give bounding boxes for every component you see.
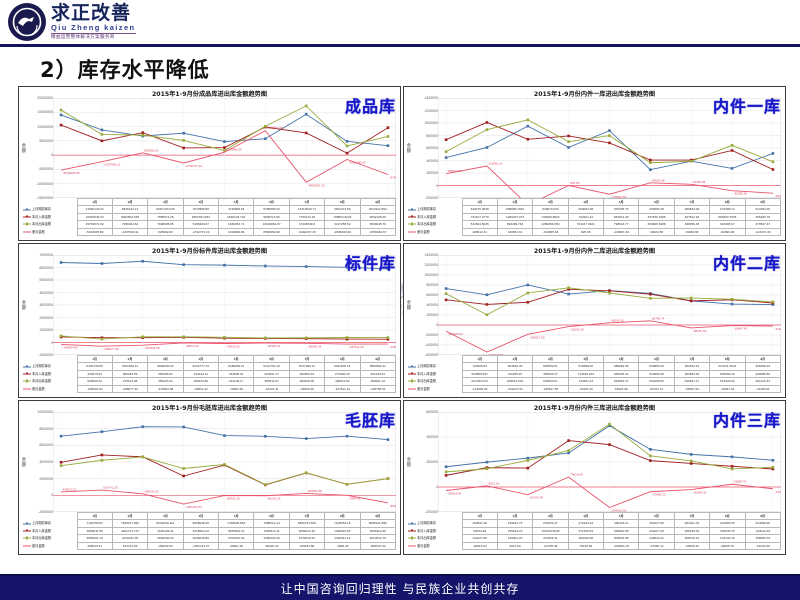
table-cell: -50020.22	[254, 542, 289, 549]
table-cell: 19466.68	[674, 228, 709, 235]
svg-text:-14041.00: -14041.00	[774, 490, 781, 494]
table-cell: 3220018.80	[183, 535, 218, 542]
table-row: 本月入库金额10540046.035002504.5357855574.2825…	[23, 213, 396, 220]
slide-header: 求正改善 Qiu Zheng kaizen 精益运营整体解决方案服务商	[0, 0, 800, 46]
table-row: 本月出库金额526006.22275123.98458123.44458122.…	[23, 378, 396, 385]
table-cell: -124605.02	[462, 385, 497, 392]
y-axis-ticks: 7000000600000050000004000000300000020000…	[27, 255, 53, 355]
table-cell: -185617.50	[533, 385, 568, 392]
svg-text:-900037.92: -900037.92	[389, 504, 396, 508]
table-cell: 208736.44	[674, 535, 709, 542]
table-cell: 14313540.71	[289, 206, 324, 213]
legend-swatch-icon	[408, 217, 416, 218]
series-差月金额: -158904.50-298277.32-215822.58-35812.32-…	[61, 343, 396, 351]
svg-text:-35812.32: -35812.32	[185, 344, 199, 348]
y-tick-label: 200000	[426, 460, 438, 464]
table-cell: 482633.54	[674, 370, 709, 377]
table-cell: -61705.49	[533, 542, 568, 549]
table-cell: 162001.48	[462, 520, 497, 527]
table-cell: 6697103.045	[148, 206, 183, 213]
y-tick-label: 1000000	[39, 328, 53, 332]
table-cell: 639843.27	[604, 378, 639, 385]
table-cell: 2648103.704	[219, 213, 254, 220]
month-header: 6月	[639, 199, 674, 206]
legend-swatch-icon	[23, 531, 31, 532]
table-cell: 560293.7635	[710, 213, 745, 220]
table-cell: 7168648.862	[219, 520, 254, 527]
table-row: 差月金额-5232625.89-2307900.11825992.83-2742…	[23, 228, 396, 235]
legend-swatch-icon	[23, 224, 31, 225]
series-legend-label: 本月出库金额	[23, 221, 77, 228]
table-cell: -1999.45	[325, 542, 360, 549]
y-tick-label: -400000	[425, 343, 438, 347]
month-header: 5月	[604, 356, 639, 363]
svg-text:-61705.49: -61705.49	[529, 496, 543, 500]
month-header: 9月	[360, 356, 396, 363]
table-cell: -28401.20	[219, 542, 254, 549]
table-row: 上月期初库存6400730.556321000.116500000.446224…	[23, 363, 396, 370]
table-cell: 17246539.6	[289, 221, 324, 228]
table-cell: -310865.63	[533, 228, 568, 235]
month-header: 5月	[604, 513, 639, 520]
month-header: 4月	[183, 199, 218, 206]
month-header: 7月	[674, 356, 709, 363]
table-cell: 3635002.31	[219, 527, 254, 534]
table-cell: 5750886.63	[254, 206, 289, 213]
month-header: 1月	[77, 356, 112, 363]
y-tick-label: -10000000	[36, 182, 53, 186]
month-header: 3月	[148, 356, 183, 363]
svg-text:-128756.61: -128756.61	[389, 345, 396, 349]
table-cell: 482633.14	[674, 363, 709, 370]
table-cell: -66500.29	[289, 385, 324, 392]
month-header: 8月	[325, 356, 360, 363]
legend-swatch-icon	[408, 374, 416, 375]
table-cell: 893489.764	[497, 221, 532, 228]
table-cell: 382306.61	[148, 370, 183, 377]
table-cell: 878405.75	[604, 206, 639, 213]
series-差月金额: -5232625.89-2307900.11825992.83-2742747.…	[61, 126, 396, 187]
table-cell: 6400730.55	[77, 363, 112, 370]
chart-title: 2015年1-9月份毛胚库进出库金额趋势图	[19, 403, 400, 412]
legend-swatch-icon	[23, 209, 31, 210]
legend-swatch-icon	[408, 224, 416, 225]
table-cell: 631472.25	[112, 542, 147, 549]
table-cell: 7855574.28	[148, 213, 183, 220]
table-cell: 8815213.14	[112, 206, 147, 213]
table-cell: 6809701.620	[289, 520, 324, 527]
footer-text: 让中国咨询回归理性 与民族企业共创共存	[281, 580, 520, 597]
table-cell: 43624.58	[639, 228, 674, 235]
svg-text:-10847.43: -10847.43	[734, 327, 748, 331]
table-cell: 256209.76	[745, 213, 781, 220]
table-cell: 1009207.073	[497, 213, 532, 220]
table-row: 差月金额-124605.02-541047.51-185617.50-31091…	[408, 385, 781, 392]
svg-text:-2307900.11: -2307900.11	[103, 163, 120, 167]
table-cell: 739480.9824	[533, 213, 568, 220]
series-legend-label: 差月金额	[23, 542, 77, 549]
table-row: 差月金额-158904.50-298277.32-215822.58-35812…	[23, 385, 396, 392]
svg-text:-37995.12: -37995.12	[652, 493, 666, 497]
table-cell: -10847.43	[710, 385, 745, 392]
month-header: 2月	[112, 199, 147, 206]
table-cell: 609004.38	[568, 206, 603, 213]
chart-panel: 2015年1-9月份标件库进出库金额趋势图标件库金额70000006000000…	[18, 243, 401, 398]
table-cell: 3560221.10	[77, 535, 112, 542]
table-cell: -900037.92	[360, 542, 396, 549]
chart-badge: 内件二库	[713, 250, 781, 274]
table-cell: 412109.17	[219, 378, 254, 385]
table-cell: -14041.00	[745, 542, 781, 549]
series-legend-label: 上月期初库存	[408, 363, 462, 370]
table-cell: 301027.80	[639, 520, 674, 527]
series-legend-label: 本月出库金额	[23, 378, 77, 385]
table-cell: 682935.22	[604, 370, 639, 377]
month-header: 9月	[360, 199, 396, 206]
table-cell: 455003.17	[533, 370, 568, 377]
table-cell: 311581.31	[497, 228, 532, 235]
series-差月金额: 408010.31631472.25182032.60-1051212.57-2…	[61, 486, 396, 510]
series-legend-label: 差月金额	[23, 385, 77, 392]
series-legend-label: 本月入库金额	[408, 527, 462, 534]
table-cell: 339001.05	[604, 527, 639, 534]
chart-badge: 成品库	[345, 93, 396, 117]
table-header-row: 1月2月3月4月5月6月7月8月9月	[23, 356, 396, 363]
table-cell: 379547.47	[745, 221, 781, 228]
table-cell: 292040.88	[568, 535, 603, 542]
legend-swatch-icon	[23, 374, 31, 375]
month-header: 1月	[77, 199, 112, 206]
y-tick-label: 400000	[426, 435, 438, 439]
svg-text:408010.31: 408010.31	[63, 487, 78, 491]
y-tick-label: 2000000	[39, 477, 53, 481]
table-cell: 7088212.14	[254, 520, 289, 527]
svg-text:-79823.62: -79823.62	[226, 345, 240, 349]
y-tick-label: 1000000	[424, 121, 438, 125]
table-cell: 681521.40	[604, 213, 639, 220]
table-cell: 371259.54	[568, 527, 603, 534]
month-header: 1月	[77, 513, 112, 520]
y-tick-label: 20000000	[37, 96, 53, 100]
svg-text:-58187.63: -58187.63	[693, 329, 707, 333]
table-cell: 6011500.16	[325, 363, 360, 370]
table-cell: -79823.62	[219, 385, 254, 392]
legend-swatch-icon	[23, 381, 31, 382]
table-cell: 15781571.92	[77, 221, 112, 228]
y-tick-label: 10000000	[37, 125, 53, 129]
table-cell: 382240.59	[112, 370, 147, 377]
table-cell: -1508160.90	[325, 228, 360, 235]
month-header: 7月	[289, 513, 324, 520]
month-header: 5月	[219, 513, 254, 520]
svg-text:825992.83: 825992.83	[144, 148, 159, 152]
table-cell: 4620100.11	[148, 527, 183, 534]
y-tick-label: -200000	[425, 333, 438, 337]
legend-swatch-icon	[408, 531, 416, 532]
table-cell: 2010012.70	[360, 535, 396, 542]
table-cell: 640620.67	[533, 378, 568, 385]
chart-data-table: 1月2月3月4月5月6月7月8月9月上月期初库存6400730.55632100…	[23, 355, 396, 395]
table-cell: 407522.18	[674, 213, 709, 220]
month-header: 5月	[219, 199, 254, 206]
svg-text:79218.66: 79218.66	[570, 473, 583, 477]
y-tick-label: 5000000	[39, 139, 53, 143]
month-header: 8月	[325, 513, 360, 520]
y-tick-label: 600000	[426, 410, 438, 414]
table-cell: 275123.98	[112, 378, 147, 385]
svg-text:-82999.90: -82999.90	[734, 192, 748, 196]
table-row: 上月期初库存14060140.028815213.146697103.04576…	[23, 206, 396, 213]
table-cell: 241066.25	[710, 520, 745, 527]
table-cell: -58187.63	[674, 385, 709, 392]
table-cell: 5002504.535	[112, 213, 147, 220]
y-tick-label: 7000000	[39, 253, 53, 257]
month-header: 7月	[674, 513, 709, 520]
table-corner-cell	[23, 199, 77, 206]
table-cell: 1300020.40	[254, 535, 289, 542]
y-tick-label: 1000000	[424, 273, 438, 277]
y-tick-label: 800000	[426, 134, 438, 138]
table-row: 上月期初库存7102766.517640217.8628232290.11482…	[23, 520, 396, 527]
table-cell: 825.95	[568, 228, 603, 235]
table-cell: 369100.90	[289, 378, 324, 385]
table-cell: 407530.1086	[639, 213, 674, 220]
month-header: 8月	[710, 513, 745, 520]
table-cell: 272103.44	[568, 520, 603, 527]
table-row: 本月出库金额121027.66146001.20213006.11292040.…	[408, 535, 781, 542]
table-cell: 1250013.11	[254, 527, 289, 534]
month-header: 1月	[462, 199, 497, 206]
table-row: 本月入库金额502886.597411265.97455003.17713190…	[408, 370, 781, 377]
table-cell: 7672585.88	[183, 206, 218, 213]
svg-text:-5232625.89: -5232625.89	[63, 171, 80, 175]
svg-text:-127511.44: -127511.44	[349, 345, 364, 349]
table-cell: 619698.00	[568, 363, 603, 370]
table-cell: 408010.31	[77, 542, 112, 549]
legend-swatch-icon	[408, 523, 416, 524]
y-tick-label: 1200000	[424, 109, 438, 113]
series-legend-label: 本月出库金额	[408, 535, 462, 542]
table-cell: 458123.44	[148, 378, 183, 385]
series-legend-label: 差月金额	[408, 542, 462, 549]
table-cell: 1320016.64	[325, 527, 360, 534]
table-row: 本月入库金额93014.62155013.23151300.6245371259…	[408, 527, 781, 534]
table-cell: 205613.922	[497, 378, 532, 385]
table-header-row: 1月2月3月4月5月6月7月8月9月	[408, 356, 781, 363]
y-tick-label: 4000000	[39, 460, 53, 464]
table-cell: -127511.44	[325, 385, 360, 392]
table-cell: 43091.95	[604, 385, 639, 392]
chart-data-table: 1月2月3月4月5月6月7月8月9月上月期初库存7102766.51764021…	[23, 512, 396, 552]
table-cell: -2307900.11	[112, 228, 147, 235]
table-cell: 744281.43	[568, 378, 603, 385]
y-tick-label: 800000	[426, 283, 438, 287]
series-legend-label: 上月期初库存	[408, 206, 462, 213]
svg-text:43624.58: 43624.58	[652, 178, 665, 182]
table-cell: 503034.08	[604, 535, 639, 542]
series-legend-label: 差月金额	[408, 228, 462, 235]
table-cell: 513929.63	[710, 378, 745, 385]
y-tick-label: 400000	[426, 159, 438, 163]
chart-data-table: 1月2月3月4月5月6月7月8月9月上月期初库存446276.354860808…	[408, 198, 781, 238]
svg-text:182032.60: 182032.60	[144, 489, 159, 493]
table-cell: 8560952.08	[254, 228, 289, 235]
table-cell: 189612.31	[462, 228, 497, 235]
svg-text:82703.74: 82703.74	[652, 316, 665, 320]
legend-swatch-icon	[408, 381, 416, 382]
series-legend-label: 差月金额	[23, 228, 77, 235]
table-cell: 5158409.07	[183, 221, 218, 228]
table-cell: 121027.66	[462, 535, 497, 542]
month-header: 4月	[183, 356, 218, 363]
month-header: 7月	[289, 356, 324, 363]
table-cell: 7640217.862	[112, 520, 147, 527]
table-cell: 390001.22	[360, 378, 396, 385]
table-row: 本月入库金额446275.61382240.59382306.61413122.…	[23, 370, 396, 377]
svg-text:-44122.11: -44122.11	[267, 344, 281, 348]
table-cell: 630689.26	[639, 363, 674, 370]
table-cell: 9840714.95	[254, 213, 289, 220]
table-cell: 273488.12	[710, 206, 745, 213]
y-tick-label: 5000000	[39, 278, 53, 282]
table-cell: 14060140.02	[77, 206, 112, 213]
table-cell: -35812.32	[183, 385, 218, 392]
table-cell: 261244.61	[360, 370, 396, 377]
table-cell: 534285.52	[639, 378, 674, 385]
table-cell: 6121791.19	[254, 363, 289, 370]
chart-panel: 2015年1-9月份毛胚库进出库金额趋势图毛胚库金额10000000800000…	[18, 400, 401, 555]
table-cell: 272500.15	[325, 370, 360, 377]
svg-text:-1508160.90: -1508160.90	[349, 160, 366, 164]
table-cell: 949670.033	[533, 206, 568, 213]
svg-text:-66500.29: -66500.29	[308, 344, 322, 348]
svg-text:8560952.08: 8560952.08	[267, 126, 283, 130]
series-legend-label: 本月出库金额	[408, 378, 462, 385]
table-row: 上月期初库存729205.53604810.45800652.51619698.…	[408, 363, 781, 370]
svg-text:19466.68: 19466.68	[693, 180, 706, 184]
table-cell: 155013.23	[497, 527, 532, 534]
table-cell: 182032.60	[148, 542, 183, 549]
legend-swatch-icon	[408, 538, 416, 539]
table-cell: 7008985.85	[148, 221, 183, 228]
table-cell: 526006.22	[77, 378, 112, 385]
table-cell: -37995.12	[639, 542, 674, 549]
table-row: 差月金额408010.31631472.25182032.60-1051212.…	[23, 542, 396, 549]
y-tick-label: 15000000	[37, 110, 53, 114]
table-cell: -139681.63	[604, 228, 639, 235]
table-cell: 363905.5288	[639, 221, 674, 228]
table-cell: -82999.90	[710, 228, 745, 235]
svg-text:631472.25: 631472.25	[103, 486, 118, 490]
legend-swatch-icon	[408, 545, 416, 546]
table-cell: 79218.66	[568, 542, 603, 549]
table-cell: 513254.26	[745, 206, 781, 213]
table-cell: 188130.02	[674, 527, 709, 534]
month-header: 1月	[462, 356, 497, 363]
chart-data-table: 1月2月3月4月5月6月7月8月9月上月期初库存729205.53604810.…	[408, 355, 781, 395]
table-cell: 729205.53	[462, 363, 497, 370]
page-title: 2）库存水平降低	[40, 54, 210, 84]
table-cell: 199012.75	[497, 520, 532, 527]
table-row: 上月期初库存162001.48199012.75231054.47272103.…	[408, 520, 781, 527]
series-legend-label: 上月期初库存	[23, 520, 77, 527]
table-cell: 800652.51	[533, 363, 568, 370]
legend-swatch-icon	[23, 388, 31, 389]
y-tick-label: 2000000	[39, 316, 53, 320]
month-header: 3月	[148, 513, 183, 520]
y-tick-label: 8000000	[39, 427, 53, 431]
table-cell: 713190.233	[568, 370, 603, 377]
month-header: 4月	[568, 356, 603, 363]
brand-name-en: Qiu Zheng kaizen	[51, 24, 136, 32]
table-cell: 3968211.50	[77, 527, 112, 534]
table-cell: 413122.11	[183, 370, 218, 377]
table-cell: 151300.6245	[533, 527, 568, 534]
table-cell: 2009112.50	[360, 527, 396, 534]
table-header-row: 1月2月3月4月5月6月7月8月9月	[23, 199, 396, 206]
table-cell: -1051212.57	[183, 542, 218, 549]
table-cell: 144134.40	[710, 535, 745, 542]
table-cell: 10540046.03	[77, 213, 112, 220]
table-cell: 9012.03	[497, 542, 532, 549]
svg-text:189612.31: 189612.31	[448, 169, 463, 173]
table-cell: 249012.41	[639, 535, 674, 542]
series-差月金额: 189612.31311581.31-310865.63825.95-13968…	[446, 162, 781, 198]
table-cell: 166030.15	[710, 527, 745, 534]
table-cell: 213006.11	[533, 535, 568, 542]
y-tick-label: 6000000	[39, 443, 53, 447]
table-cell: 6688121.896	[360, 520, 396, 527]
svg-text:-2742747.24: -2742747.24	[185, 164, 202, 168]
table-cell: 446275.61	[77, 370, 112, 377]
table-cell: 344505.61	[219, 370, 254, 377]
table-cell: 461143.33	[745, 378, 781, 385]
svg-text:-1999.45: -1999.45	[349, 496, 361, 500]
table-cell: -128756.61	[360, 385, 396, 392]
table-cell: 825992.83	[148, 228, 183, 235]
table-corner-cell	[408, 199, 462, 206]
table-cell: 798613.77	[604, 221, 639, 228]
series-legend-label: 本月入库金额	[23, 213, 77, 220]
table-cell: 604810.45	[497, 363, 532, 370]
table-cell: -158904.50	[77, 385, 112, 392]
table-cell: -20606.42	[674, 542, 709, 549]
svg-text:-215822.58: -215822.58	[144, 346, 160, 350]
table-cell: 4841471.137	[112, 527, 147, 534]
table-corner-cell	[23, 356, 77, 363]
legend-swatch-icon	[408, 366, 416, 367]
chart-badge: 内件一库	[713, 93, 781, 117]
table-cell: 82703.74	[639, 385, 674, 392]
table-cell: 4602330.20	[148, 535, 183, 542]
y-tick-label: 1200000	[424, 263, 438, 267]
table-cell: 3700012.40	[219, 535, 254, 542]
table-cell: 733107.2779	[462, 213, 497, 220]
table-cell: 6500000.44	[148, 363, 183, 370]
series-legend-label: 本月出库金额	[408, 221, 462, 228]
series-legend-label: 上月期初库存	[23, 206, 77, 213]
legend-swatch-icon	[23, 523, 31, 524]
table-cell: 5884690.11	[360, 363, 396, 370]
month-header: 8月	[325, 199, 360, 206]
table-cell: 93014.62	[462, 527, 497, 534]
series-legend-label: 本月入库金额	[408, 370, 462, 377]
table-header-row: 1月2月3月4月5月6月7月8月9月	[408, 199, 781, 206]
table-cell: -9492267.15	[289, 228, 324, 235]
table-cell: 3217255.52	[325, 221, 360, 228]
svg-text:-9492267.15: -9492267.15	[308, 183, 325, 187]
y-tick-label: 200000	[426, 313, 438, 317]
